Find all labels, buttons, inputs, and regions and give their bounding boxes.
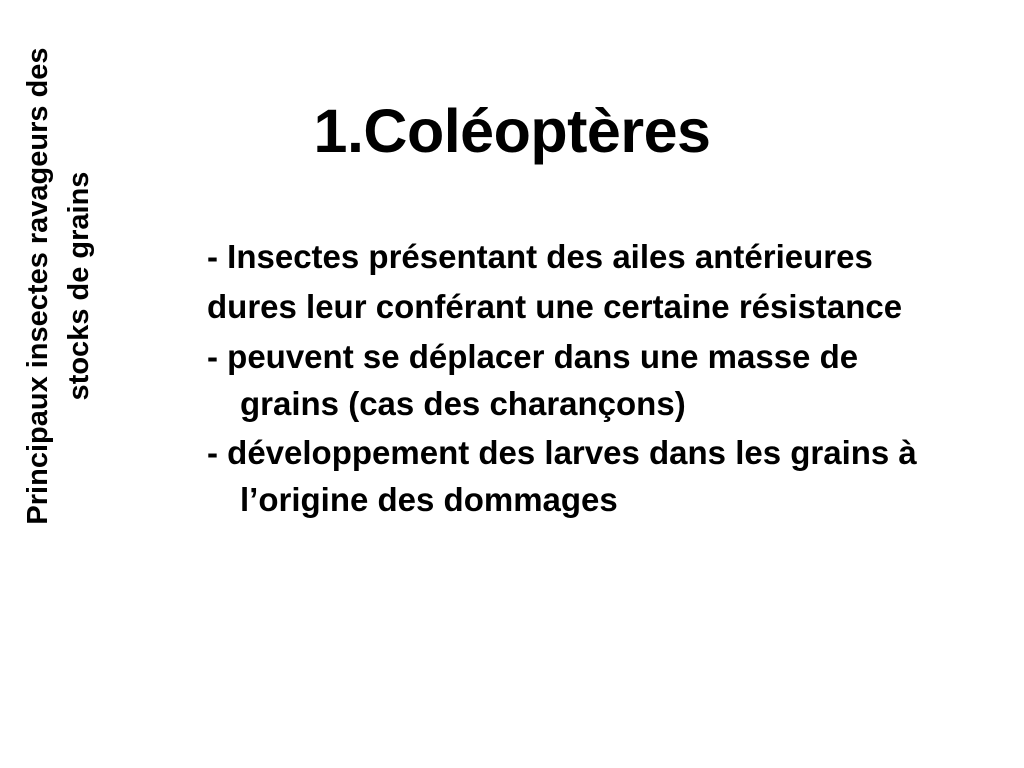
body-line: grains (cas des charançons) [207,387,997,420]
slide-body-text: - Insectes présentant des ailes antérieu… [207,240,997,530]
body-line: - peuvent se déplacer dans une masse de [207,340,997,373]
body-paragraph: - peuvent se déplacer dans une masse de … [207,340,997,420]
side-caption-line-2: stocks de grains [59,172,100,401]
body-line: - développement des larves dans les grai… [207,436,997,469]
body-paragraph: - développement des larves dans les grai… [207,436,997,516]
body-line: l’origine des dommages [207,483,997,516]
page-title: 1.Coléoptères [150,99,874,163]
presentation-slide: 1.Coléoptères Principaux insectes ravage… [0,0,1024,768]
body-paragraph: - Insectes présentant des ailes antérieu… [207,240,997,323]
slide-side-caption: Principaux insectes ravageurs des stocks… [18,6,128,566]
body-line: - Insectes présentant des ailes antérieu… [207,240,997,273]
body-line: dures leur conférant une certaine résist… [207,290,997,323]
side-caption-line-1: Principaux insectes ravageurs des [18,47,59,524]
